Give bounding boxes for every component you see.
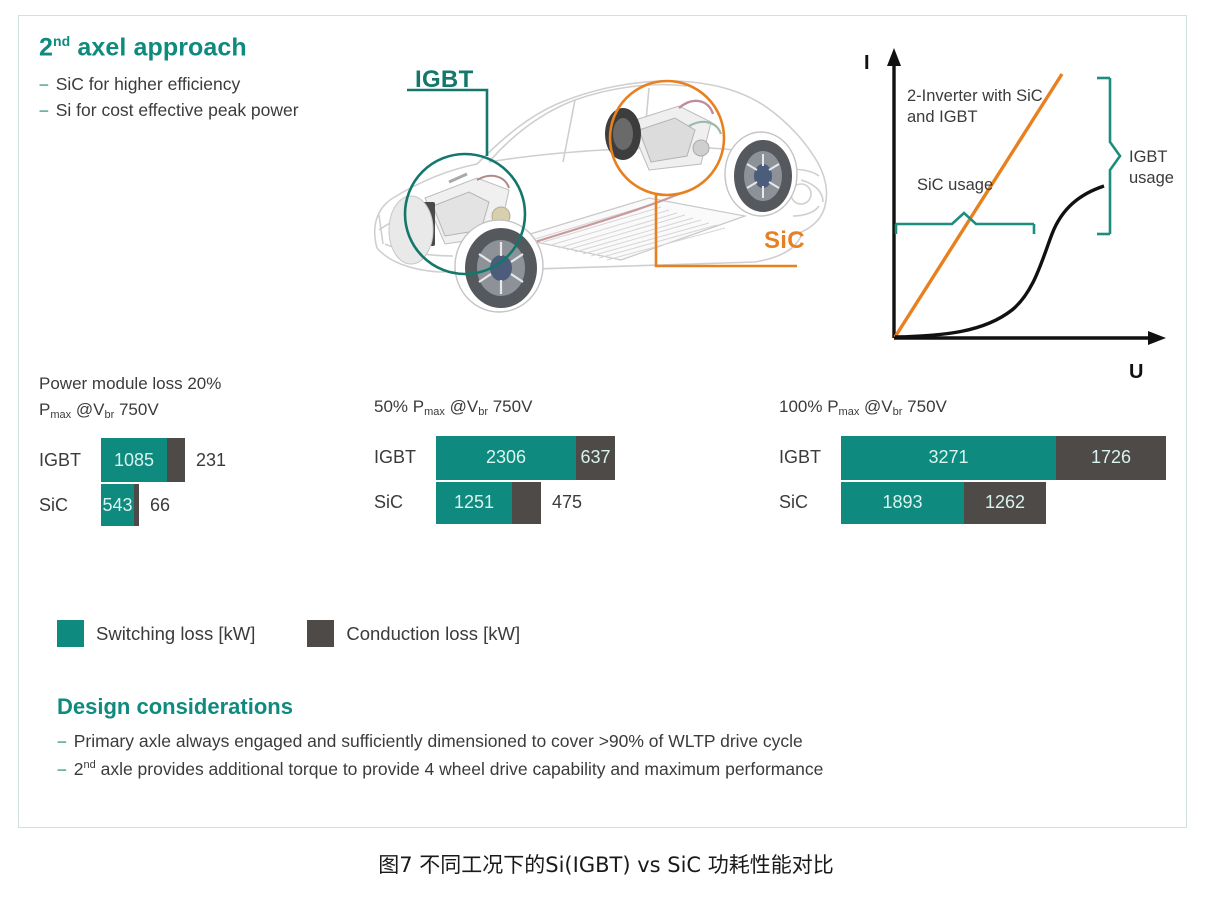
iv-axis-label-i: I bbox=[864, 52, 870, 75]
bar-track: 1085 bbox=[101, 438, 185, 482]
bar-track: 543 bbox=[101, 484, 139, 526]
slide-frame: 2nd axel approach – SiC for higher effic… bbox=[18, 15, 1187, 828]
spacer bbox=[39, 423, 226, 437]
iv-sic-usage-label: SiC usage bbox=[917, 176, 993, 195]
legend-label-switching: Switching loss [kW] bbox=[96, 623, 255, 645]
bar-segment-switching: 2306 bbox=[436, 436, 576, 480]
page-title-superscript: nd bbox=[53, 33, 70, 49]
design-considerations: Design considerations – Primary axle alw… bbox=[57, 694, 1157, 784]
bar-group-title: 50% Pmax @Vbr 750V bbox=[374, 394, 615, 421]
heading-bullet-1-text: SiC for higher efficiency bbox=[56, 71, 241, 98]
bar-group-50pct: 50% Pmax @Vbr 750VIGBT2306637SiC1251475 bbox=[374, 394, 615, 525]
design-bullet-2: – 2nd axle provides additional torque to… bbox=[57, 755, 1157, 783]
bar-row: IGBT2306637 bbox=[374, 435, 615, 481]
bar-track: 32711726 bbox=[841, 436, 1166, 480]
dash-icon: – bbox=[57, 727, 67, 755]
bar-segment-conduction bbox=[512, 482, 541, 524]
bar-segment-switching: 543 bbox=[101, 484, 134, 526]
bar-value-conduction-outside: 231 bbox=[185, 450, 226, 471]
figure-caption: 图7 不同工况下的Si(IGBT) vs SiC 功耗性能对比 bbox=[0, 849, 1212, 879]
dash-icon: – bbox=[57, 755, 67, 783]
spacer bbox=[374, 421, 615, 435]
bar-value-conduction-outside: 475 bbox=[541, 492, 582, 513]
bar-segment-switching: 1893 bbox=[841, 482, 964, 524]
bar-group-title: 100% Pmax @Vbr 750V bbox=[779, 394, 1166, 421]
bar-value-conduction-outside: 66 bbox=[139, 495, 170, 516]
bar-row-label: SiC bbox=[779, 492, 841, 513]
bar-row-label: IGBT bbox=[39, 450, 101, 471]
legend-swatch-conduction bbox=[307, 620, 334, 647]
iv-igbt-usage-label: IGBT usage bbox=[1129, 147, 1199, 190]
heading-bullet-2: – Si for cost effective peak power bbox=[39, 97, 399, 124]
heading-block: 2nd axel approach – SiC for higher effic… bbox=[39, 34, 399, 124]
bar-row: SiC54366 bbox=[39, 483, 226, 527]
design-considerations-title: Design considerations bbox=[57, 694, 1157, 720]
bar-row: IGBT1085231 bbox=[39, 437, 226, 483]
legend-swatch-switching bbox=[57, 620, 84, 647]
callout-igbt-label: IGBT bbox=[415, 66, 474, 94]
bar-row: SiC18931262 bbox=[779, 481, 1166, 525]
spacer bbox=[779, 421, 1166, 435]
bar-segment-conduction bbox=[167, 438, 185, 482]
bar-track: 18931262 bbox=[841, 482, 1046, 524]
bar-segment-switching: 1085 bbox=[101, 438, 167, 482]
page-title-main: 2 bbox=[39, 33, 53, 61]
bar-row: IGBT32711726 bbox=[779, 435, 1166, 481]
dash-icon: – bbox=[39, 71, 49, 98]
legend-label-conduction: Conduction loss [kW] bbox=[346, 623, 520, 645]
bar-row: SiC1251475 bbox=[374, 481, 615, 525]
bar-group-20pct: Power module loss 20%Pmax @Vbr 750VIGBT1… bbox=[39, 371, 226, 527]
dash-icon: – bbox=[39, 97, 49, 124]
page-title: 2nd axel approach bbox=[39, 34, 399, 62]
callout-sic-label: SiC bbox=[764, 227, 805, 255]
iv-axis-label-u: U bbox=[1129, 361, 1143, 384]
bar-track: 2306637 bbox=[436, 436, 615, 480]
bar-row-label: IGBT bbox=[779, 447, 841, 468]
design-bullet-1-text: Primary axle always engaged and sufficie… bbox=[74, 727, 803, 755]
bar-segment-conduction: 637 bbox=[576, 436, 615, 480]
bar-segment-conduction: 1726 bbox=[1056, 436, 1166, 480]
bar-row-label: SiC bbox=[374, 492, 436, 513]
bar-group-title: Power module loss 20%Pmax @Vbr 750V bbox=[39, 371, 226, 423]
legend-item-switching: Switching loss [kW] bbox=[57, 620, 255, 647]
iv-chart-note: 2-Inverter with SiC and IGBT bbox=[907, 86, 1057, 128]
bar-segment-switching: 3271 bbox=[841, 436, 1056, 480]
bar-track: 1251 bbox=[436, 482, 541, 524]
heading-bullet-1: – SiC for higher efficiency bbox=[39, 71, 399, 98]
design-bullet-2-text: 2nd axle provides additional torque to p… bbox=[74, 755, 824, 783]
bar-segment-conduction: 1262 bbox=[964, 482, 1046, 524]
bar-segment-switching: 1251 bbox=[436, 482, 512, 524]
page-title-rest: axel approach bbox=[70, 33, 246, 61]
legend-item-conduction: Conduction loss [kW] bbox=[307, 620, 520, 647]
chart-legend: Switching loss [kW] Conduction loss [kW] bbox=[57, 620, 520, 647]
heading-bullet-2-text: Si for cost effective peak power bbox=[56, 97, 299, 124]
bar-row-label: IGBT bbox=[374, 447, 436, 468]
bar-row-label: SiC bbox=[39, 495, 101, 516]
bar-group-100pct: 100% Pmax @Vbr 750VIGBT32711726SiC189312… bbox=[779, 394, 1166, 525]
design-bullet-1: – Primary axle always engaged and suffic… bbox=[57, 727, 1157, 755]
